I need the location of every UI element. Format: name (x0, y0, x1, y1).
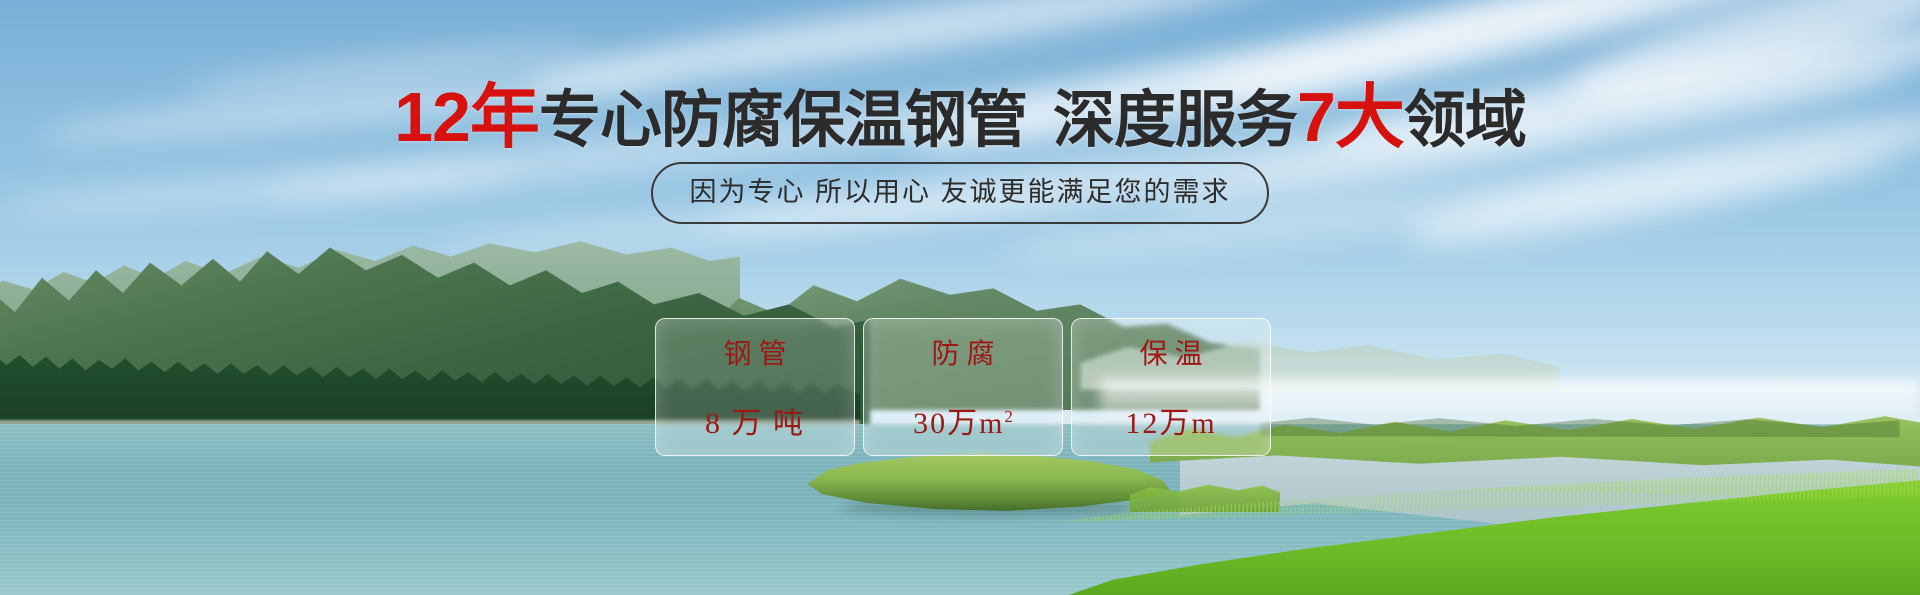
headline-part-five: 领域 (1404, 86, 1526, 155)
stat-card-anticorrosion[interactable]: 防腐 30万m2 (863, 318, 1063, 456)
subtitle-container: 因为专心 所以用心 友诚更能满足您的需求 (0, 162, 1920, 224)
stat-card-value: 30万m2 (913, 398, 1013, 442)
subtitle-pill: 因为专心 所以用心 友诚更能满足您的需求 (651, 162, 1268, 224)
stat-value-text: 12万m (1125, 407, 1216, 440)
stat-card-title: 保温 (1132, 332, 1209, 372)
stat-value-text: 30万m (913, 407, 1004, 440)
headline: 12年专心防腐保温钢管深度服务7大领域 (0, 82, 1920, 152)
hero-banner: 12年专心防腐保温钢管深度服务7大领域 因为专心 所以用心 友诚更能满足您的需求… (0, 0, 1920, 595)
headline-part-two: 专心防腐保温钢管 (539, 86, 1027, 155)
stat-value-superscript: 2 (1004, 407, 1013, 426)
stat-card-value: 8 万 吨 (705, 398, 805, 442)
stat-card-title: 钢管 (716, 332, 793, 372)
stats-card-group: 钢管 8 万 吨 防腐 30万m2 保温 12万m (655, 318, 1271, 456)
headline-seven-highlight: 7大 (1297, 78, 1404, 156)
headline-years-highlight: 12年 (394, 78, 539, 156)
stat-value-text: 8 万 吨 (705, 407, 805, 440)
stat-card-steel-pipe[interactable]: 钢管 8 万 吨 (655, 318, 855, 456)
stat-card-value: 12万m (1125, 398, 1216, 442)
headline-part-three: 深度服务 (1053, 86, 1297, 155)
stat-card-title: 防腐 (924, 332, 1001, 372)
stat-card-insulation[interactable]: 保温 12万m (1071, 318, 1271, 456)
